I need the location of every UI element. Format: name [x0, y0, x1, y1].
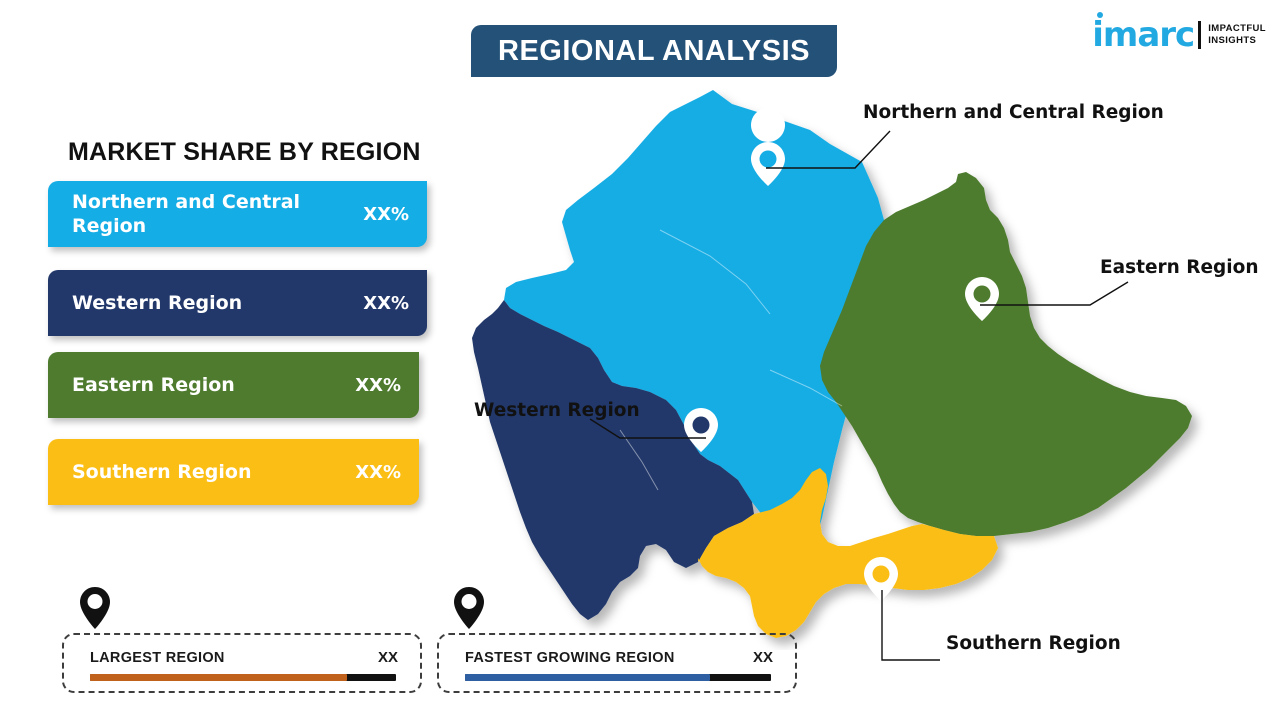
- map-pin-southern[interactable]: [864, 557, 898, 601]
- stat-card-progress-fill: [90, 674, 347, 681]
- stat-card-row: LARGEST REGION XX: [64, 635, 420, 666]
- callout-eastern-region: Eastern Region: [1100, 257, 1259, 278]
- callout-southern-region: Southern Region: [946, 633, 1121, 654]
- legend-item-label: Southern Region: [72, 460, 345, 484]
- stat-card-fastest-growing-region[interactable]: FASTEST GROWING REGION XX: [437, 633, 797, 693]
- stat-card-value: XX: [753, 649, 773, 666]
- legend-item-value: XX%: [355, 462, 401, 483]
- market-share-heading: MARKET SHARE BY REGION: [68, 138, 421, 167]
- logo-tagline-line2: INSIGHTS: [1208, 35, 1266, 47]
- imarc-logo: imarc IMPACTFUL INSIGHTS: [1092, 14, 1266, 56]
- legend-item-label: Northern and Central Region: [72, 190, 353, 238]
- largest-region-pin-icon: [78, 586, 112, 630]
- stat-card-label: FASTEST GROWING REGION: [465, 650, 753, 666]
- legend-item-western-region[interactable]: Western Region XX%: [48, 270, 427, 336]
- logo-tagline-line1: IMPACTFUL: [1208, 23, 1266, 35]
- page-title-text: REGIONAL ANALYSIS: [498, 35, 810, 68]
- legend-item-northern-and-central-region[interactable]: Northern and Central Region XX%: [48, 181, 427, 247]
- stat-card-value: XX: [378, 649, 398, 666]
- legend-item-value: XX%: [355, 375, 401, 396]
- stat-card-progress-track: [465, 674, 771, 681]
- legend-item-value: XX%: [363, 293, 409, 314]
- stat-card-progress-track: [90, 674, 396, 681]
- saudi-arabia-region-map: [470, 70, 1280, 650]
- map-svg: [470, 70, 1280, 650]
- slide-canvas: REGIONAL ANALYSIS imarc IMPACTFUL INSIGH…: [0, 0, 1280, 720]
- logo-tagline: IMPACTFUL INSIGHTS: [1208, 23, 1266, 47]
- legend-item-label: Western Region: [72, 291, 353, 315]
- logo-wordmark-text: imarc: [1092, 15, 1194, 55]
- legend-item-label: Eastern Region: [72, 373, 345, 397]
- legend-item-value: XX%: [363, 204, 409, 225]
- stat-card-largest-region[interactable]: LARGEST REGION XX: [62, 633, 422, 693]
- legend-item-southern-region[interactable]: Southern Region XX%: [48, 439, 419, 505]
- callout-northern-and-central-region: Northern and Central Region: [863, 102, 1164, 123]
- logo-wordmark: imarc: [1092, 18, 1194, 52]
- stat-card-row: FASTEST GROWING REGION XX: [439, 635, 795, 666]
- callout-western-region: Western Region: [474, 400, 640, 421]
- legend-item-eastern-region[interactable]: Eastern Region XX%: [48, 352, 419, 418]
- fastest-growing-region-pin-icon: [452, 586, 486, 630]
- stat-card-progress-fill: [465, 674, 710, 681]
- logo-divider: [1198, 21, 1201, 49]
- stat-card-label: LARGEST REGION: [90, 650, 378, 666]
